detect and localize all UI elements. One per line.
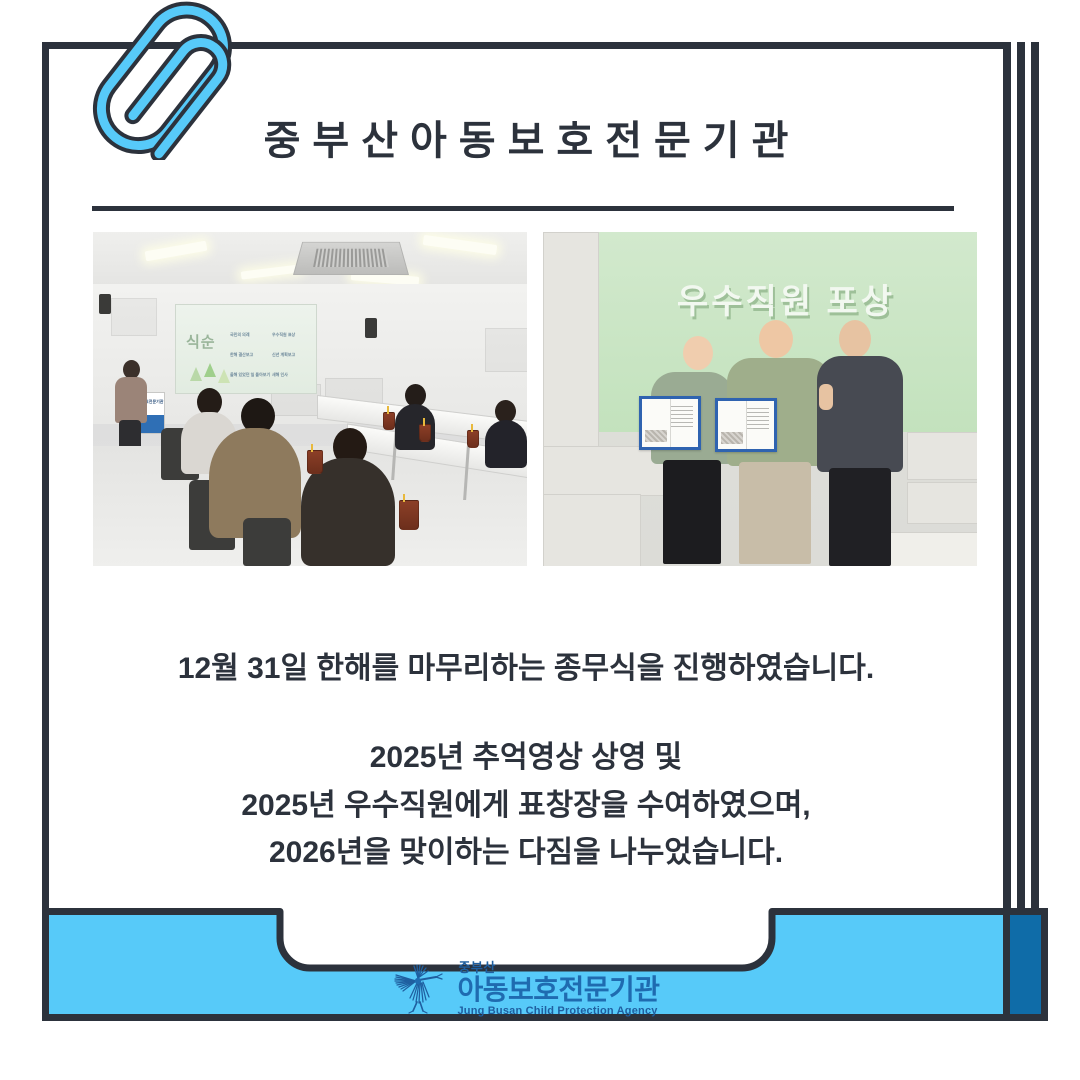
tree-graphic — [190, 367, 202, 381]
wall-cabinet — [907, 482, 977, 524]
title-divider — [92, 206, 954, 211]
binding-bar — [1031, 42, 1039, 1021]
person-torso — [817, 356, 903, 472]
wall-cabinet — [543, 494, 641, 566]
paragraph-spacer — [59, 692, 993, 734]
person-legs — [739, 462, 811, 564]
chair — [243, 518, 291, 566]
body-copy: 12월 31일 한해를 마무리하는 종무식을 진행하였습니다. 2025년 추억… — [59, 645, 993, 877]
wall-speaker — [365, 318, 377, 338]
screen-item: 새해 인사 — [272, 371, 288, 379]
wall-cabinet — [543, 232, 599, 448]
postcard-root: 중부산아동보호전문기관 — [0, 0, 1080, 1080]
wall-panel — [111, 298, 157, 336]
wall-speaker — [99, 294, 111, 314]
certificate — [639, 396, 701, 450]
screen-item: 올해 있었던 일 돌아보기 — [230, 371, 270, 379]
tree-graphic — [204, 363, 216, 377]
wall-panel — [485, 328, 527, 372]
drink-cup — [399, 500, 419, 530]
certificate-seal — [645, 430, 667, 442]
screen-item: 우수직원 표상 — [272, 331, 295, 339]
binding-bar — [1017, 42, 1025, 1021]
attendee-body — [485, 420, 527, 468]
body-line-2: 2025년 추억영상 상영 및 — [59, 734, 993, 781]
screen-item: 한해 결산보고 — [230, 351, 253, 359]
drink-cup — [419, 424, 431, 442]
binding-bar — [1003, 42, 1011, 1021]
drink-cup — [467, 430, 479, 448]
room-scene: 식순 국민의 의례 우수직원 표상 한해 결산보고 신년 계획보고 올해 있었던… — [93, 232, 527, 566]
tree-graphic — [218, 369, 230, 383]
bird-logo-mark-icon — [392, 964, 448, 1014]
certificate-text — [671, 406, 693, 428]
logo-text: 중부산 아동보호전문기관 Jung Busan Child Protection… — [457, 961, 659, 1017]
thumbs-up-hand-icon — [819, 384, 833, 410]
certificate-seal — [721, 432, 743, 444]
certificate — [715, 398, 777, 452]
logo-english: Jung Busan Child Protection Agency — [457, 1006, 657, 1017]
body-line-3: 2025년 우수직원에게 표창장을 수여하였으며, — [59, 782, 993, 829]
person-head — [759, 320, 793, 358]
footer-logo: 중부산 아동보호전문기관 Jung Busan Child Protection… — [42, 960, 1010, 1018]
person-head — [683, 336, 713, 370]
person-head — [839, 320, 871, 358]
award-scene: 우수직원 포상 — [543, 232, 977, 566]
footer-accent-tab — [1003, 908, 1048, 1021]
presenter-body — [115, 377, 147, 423]
wall-cabinet — [907, 432, 977, 480]
screen-item: 신년 계획보고 — [272, 351, 295, 359]
binding-stripes — [1003, 42, 1048, 1021]
ac-grill — [313, 249, 389, 267]
logo-subtitle: 중부산 — [457, 961, 495, 974]
projection-heading: 우수직원 포상 — [595, 274, 977, 323]
attendee-body — [301, 458, 395, 566]
body-line-4: 2026년을 맞이하는 다짐을 나누었습니다. — [59, 829, 993, 876]
projector-screen: 식순 국민의 의례 우수직원 표상 한해 결산보고 신년 계획보고 올해 있었던… — [175, 304, 317, 394]
body-line-1: 12월 31일 한해를 마무리하는 종무식을 진행하였습니다. — [59, 645, 993, 692]
paperclip-icon — [72, 0, 252, 160]
award-ceremony-photo: 우수직원 포상 — [543, 232, 977, 566]
logo-body-dot — [415, 978, 421, 984]
person-legs — [829, 468, 891, 566]
person-legs — [663, 460, 721, 564]
air-conditioner — [293, 242, 409, 275]
card-frame: 중부산아동보호전문기관 — [42, 42, 1010, 1021]
screen-item: 국민의 의례 — [230, 331, 250, 339]
meeting-room-photo: 식순 국민의 의례 우수직원 표상 한해 결산보고 신년 계획보고 올해 있었던… — [93, 232, 527, 566]
photo-row: 식순 국민의 의례 우수직원 표상 한해 결산보고 신년 계획보고 올해 있었던… — [93, 232, 977, 566]
logo-title: 아동보호전문기관 — [457, 976, 659, 1004]
drink-cup — [307, 450, 323, 474]
screen-heading: 식순 — [186, 331, 216, 352]
certificate-text — [747, 408, 769, 430]
footer: 중부산 아동보호전문기관 Jung Busan Child Protection… — [42, 908, 1010, 1021]
drink-cup — [383, 412, 395, 430]
wall-cabinet — [543, 446, 665, 496]
